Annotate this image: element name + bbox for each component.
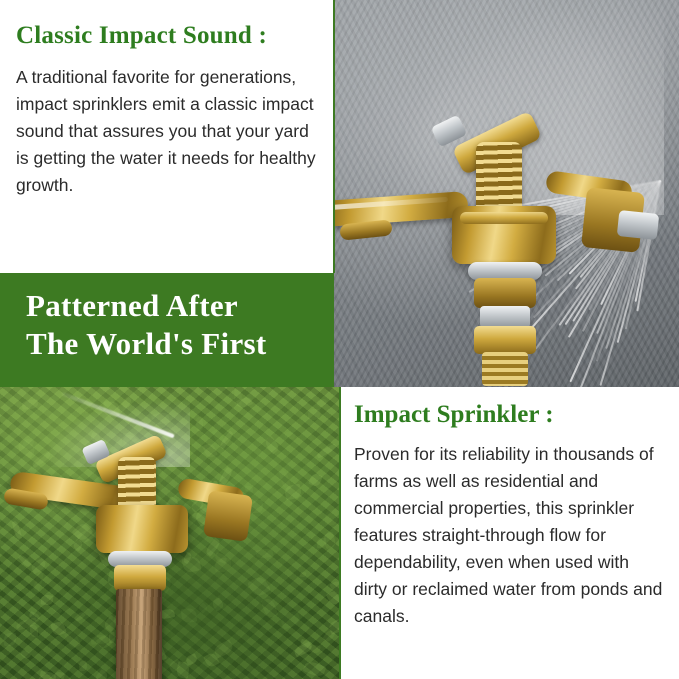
banner-headline-line-1: Patterned After	[26, 287, 386, 325]
banner-headline: Patterned After The World's First	[26, 287, 386, 363]
product-feature-infographic: Classic Impact Sound : A traditional fav…	[0, 0, 679, 679]
banner-headline-line-2: The World's First	[26, 325, 386, 363]
bottom-right-text-panel: Impact Sprinkler : Proven for its reliab…	[340, 387, 679, 679]
classic-impact-sound-heading: Classic Impact Sound :	[16, 22, 316, 50]
impact-sprinkler-body: Proven for its reliability in thousands …	[354, 441, 663, 631]
green-banner: Patterned After The World's First	[0, 273, 679, 387]
top-right-photo-frame	[334, 0, 679, 273]
top-section: Classic Impact Sound : A traditional fav…	[0, 0, 679, 273]
impact-sprinkler-garden-photo	[0, 387, 340, 679]
impact-sprinkler-heading: Impact Sprinkler :	[354, 401, 663, 429]
garden-sprinkler-head	[96, 505, 188, 553]
top-left-text-panel: Classic Impact Sound : A traditional fav…	[0, 0, 334, 273]
wooden-stake-grain	[116, 589, 162, 679]
classic-impact-sound-body: A traditional favorite for generations, …	[16, 64, 316, 200]
bottom-vertical-divider	[339, 387, 341, 679]
garden-deflector-block	[203, 490, 253, 542]
garden-sprinkler-neck	[114, 565, 166, 591]
top-vertical-divider	[333, 0, 335, 273]
